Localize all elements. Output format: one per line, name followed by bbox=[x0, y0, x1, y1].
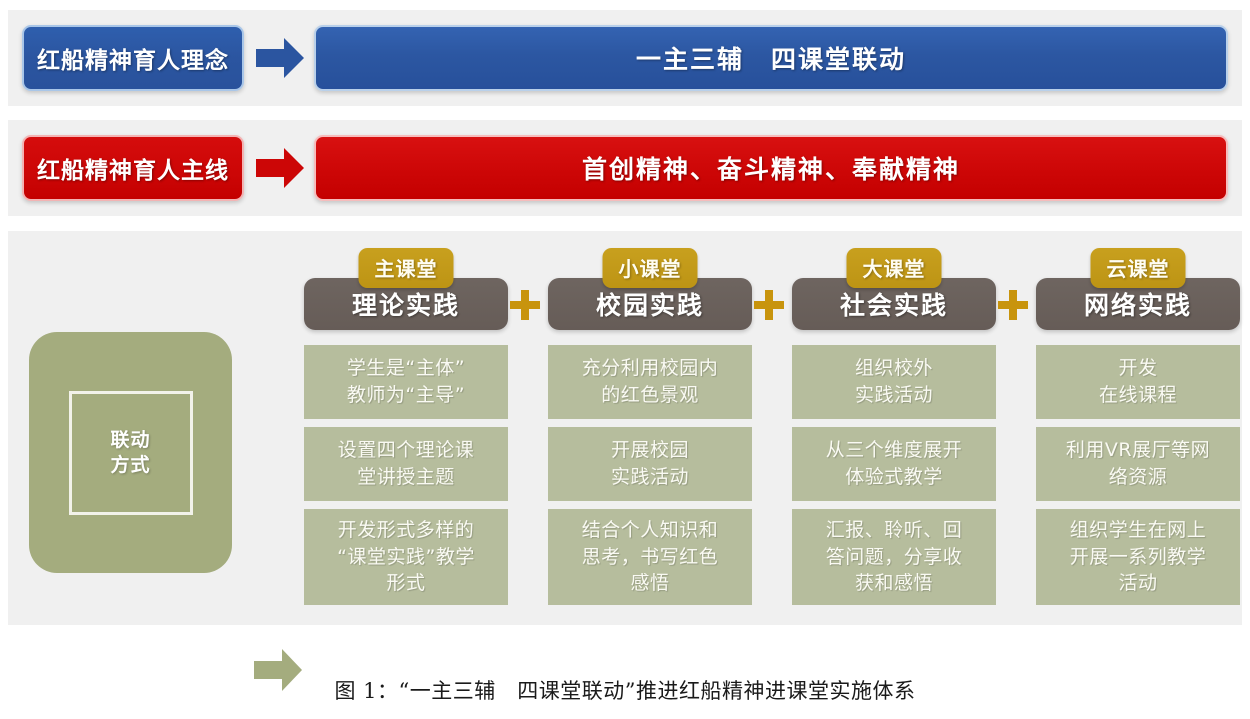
concept-label-pill: 红船精神育人理念 bbox=[22, 25, 244, 91]
matrix-cell: 结合个人知识和思考，书写红色感悟 bbox=[548, 509, 752, 605]
plus-icon bbox=[998, 290, 1028, 320]
matrix-cell: 组织学生在网上开展一系列教学活动 bbox=[1036, 509, 1240, 605]
mainline-bar: 首创精神、奋斗精神、奉献精神 bbox=[314, 135, 1228, 201]
matrix-cell: 开发形式多样的“课堂实践”教学形式 bbox=[304, 509, 508, 605]
classroom-columns: 主课堂 理论实践 学生是“主体”教师为“主导” 设置四个理论课堂讲授主题 开发形… bbox=[304, 231, 1230, 625]
matrix-cell: 开发在线课程 bbox=[1036, 345, 1240, 419]
matrix-cell: 从三个维度展开体验式教学 bbox=[792, 427, 996, 501]
liandong-line2: 方式 bbox=[110, 453, 150, 478]
matrix-cell: 利用VR展厅等网络资源 bbox=[1036, 427, 1240, 501]
column-tag: 主课堂 bbox=[359, 248, 454, 288]
liandong-panel: 联动 方式 bbox=[29, 332, 232, 573]
column-tag: 大课堂 bbox=[847, 248, 942, 288]
column-tag: 小课堂 bbox=[603, 248, 698, 288]
liandong-inner-box: 联动 方式 bbox=[69, 391, 193, 515]
right-arrow-icon bbox=[254, 36, 306, 80]
column-cells: 充分利用校园内的红色景观 开展校园实践活动 结合个人知识和思考，书写红色感悟 bbox=[548, 345, 752, 613]
liandong-line1: 联动 bbox=[110, 428, 150, 453]
plus-icon bbox=[754, 290, 784, 320]
matrix-cell: 学生是“主体”教师为“主导” bbox=[304, 345, 508, 419]
plus-icon bbox=[510, 290, 540, 320]
matrix-cell: 开展校园实践活动 bbox=[548, 427, 752, 501]
column-tag: 云课堂 bbox=[1091, 248, 1186, 288]
figure-caption: 图 1：“一主三辅 四课堂联动”推进红船精神进课堂实施体系 bbox=[0, 675, 1250, 705]
right-arrow-icon bbox=[254, 146, 306, 190]
mainline-row-band: 红船精神育人主线 首创精神、奋斗精神、奉献精神 bbox=[8, 120, 1242, 216]
concept-bar: 一主三辅 四课堂联动 bbox=[314, 25, 1228, 91]
mainline-label-pill: 红船精神育人主线 bbox=[22, 135, 244, 201]
column-cells: 学生是“主体”教师为“主导” 设置四个理论课堂讲授主题 开发形式多样的“课堂实践… bbox=[304, 345, 508, 613]
matrix-band: 联动 方式 主课堂 理论实践 学生是“主体”教师为“主导” 设置四个理论课堂讲授… bbox=[8, 231, 1242, 625]
column-cells: 开发在线课程 利用VR展厅等网络资源 组织学生在网上开展一系列教学活动 bbox=[1036, 345, 1240, 613]
column-cells: 组织校外实践活动 从三个维度展开体验式教学 汇报、聆听、回答问题，分享收获和感悟 bbox=[792, 345, 996, 613]
matrix-cell: 设置四个理论课堂讲授主题 bbox=[304, 427, 508, 501]
matrix-cell: 汇报、聆听、回答问题，分享收获和感悟 bbox=[792, 509, 996, 605]
concept-row-band: 红船精神育人理念 一主三辅 四课堂联动 bbox=[8, 10, 1242, 106]
matrix-cell: 组织校外实践活动 bbox=[792, 345, 996, 419]
matrix-cell: 充分利用校园内的红色景观 bbox=[548, 345, 752, 419]
